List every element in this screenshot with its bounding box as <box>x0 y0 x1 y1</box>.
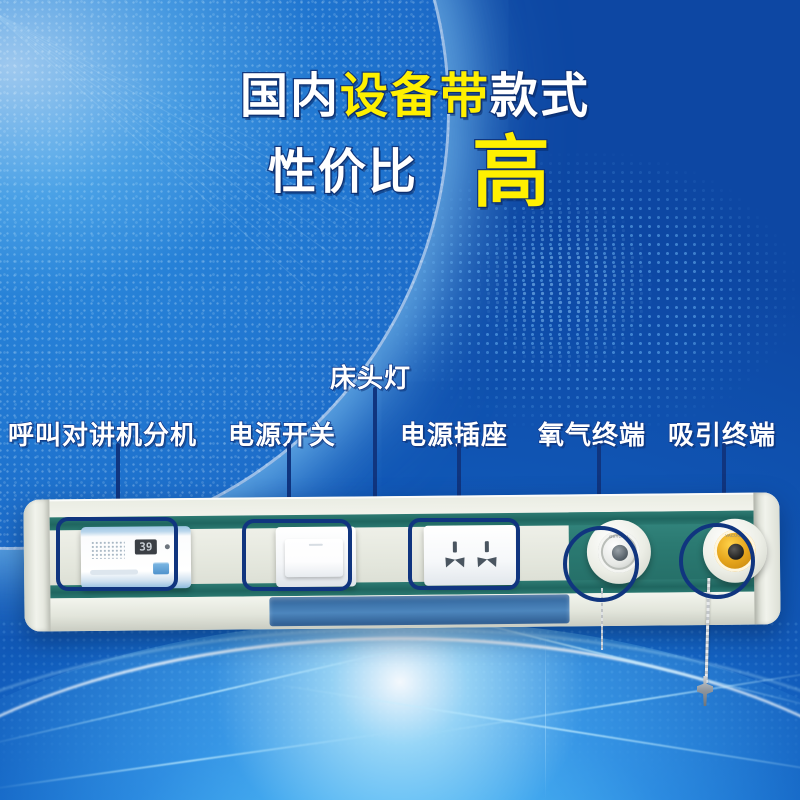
headline-part-1: 国内 <box>240 68 340 124</box>
intercom-call-button[interactable] <box>153 562 169 574</box>
intercom-display: 39 <box>135 539 157 554</box>
suction-terminal[interactable]: VACUUM <box>703 518 768 583</box>
callout-label-bed-lamp: 床头灯 <box>330 358 411 395</box>
power-outlet-plate[interactable] <box>424 525 517 586</box>
headline-line2-left: 性价比 <box>268 146 418 200</box>
vertical-light-line <box>545 630 546 800</box>
panel-end-cap-left <box>23 499 50 631</box>
speaker-grille-icon <box>91 541 125 559</box>
headline-part-2: 设备带 <box>340 68 490 124</box>
headline-block: 国内设备带款式 性价比 高 <box>0 70 800 210</box>
suction-terminal-port-icon[interactable] <box>728 544 744 560</box>
power-switch-rocker[interactable] <box>285 539 343 578</box>
suction-terminal-ring: VACUUM <box>714 530 756 572</box>
indicator-led-icon <box>165 544 170 549</box>
oxygen-terminal[interactable]: OXYGEN <box>587 520 652 585</box>
suction-terminal-text: VACUUM <box>714 533 756 538</box>
power-switch-plate[interactable] <box>276 526 357 587</box>
oxygen-terminal-text: OXYGEN <box>598 534 640 539</box>
nurse-call-intercom-unit[interactable]: 39 <box>81 526 192 589</box>
socket-left-icon[interactable] <box>440 541 470 569</box>
callout-label-intercom: 呼叫对讲机分机 <box>8 415 197 452</box>
intercom-label-strip <box>90 570 138 575</box>
headline-part-3: 款式 <box>490 68 590 124</box>
oxygen-cord <box>601 588 603 650</box>
callout-label-power-switch: 电源开关 <box>228 415 336 452</box>
callout-label-oxygen: 氧气终端 <box>538 415 646 452</box>
halftone-map-dots-dense <box>430 190 730 380</box>
headline-line2-right: 高 <box>472 136 552 210</box>
callout-label-power-outlet: 电源插座 <box>400 415 508 452</box>
bed-lamp-diffuser[interactable] <box>269 594 569 626</box>
rocker-notch-icon <box>309 544 323 546</box>
oxygen-terminal-port-icon[interactable] <box>612 545 628 561</box>
oxygen-terminal-ring: OXYGEN <box>598 531 640 573</box>
socket-right-icon[interactable] <box>472 541 502 569</box>
promo-image: 国内设备带款式 性价比 高 呼叫对讲机分机 电源开关 床头灯 电源插座 氧气终端… <box>0 0 800 800</box>
medical-bed-head-panel: 39 OXYGEN <box>23 492 780 631</box>
